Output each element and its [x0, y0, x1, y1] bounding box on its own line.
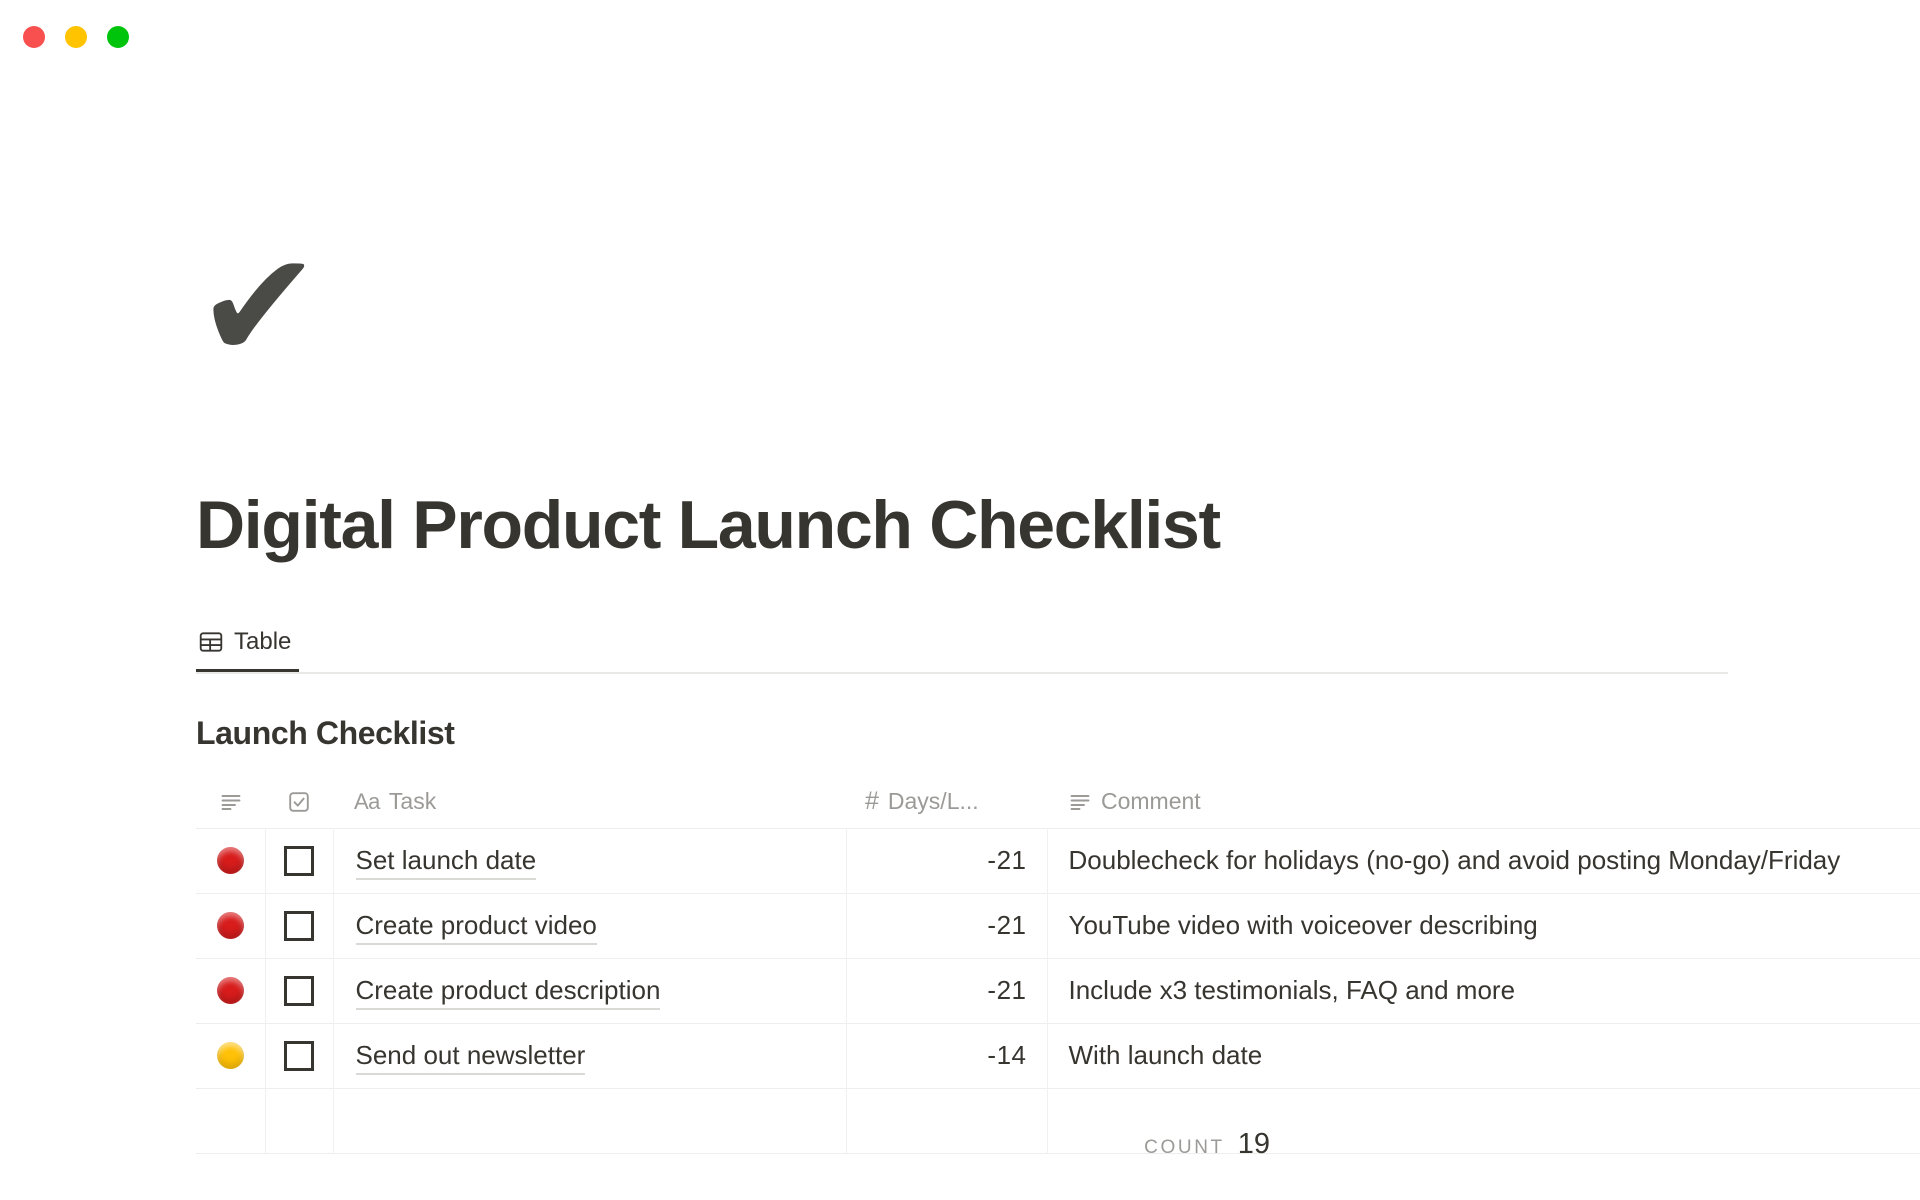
column-header-comment[interactable]: Comment [1047, 776, 1920, 828]
cell-task[interactable]: Set launch date [333, 828, 846, 893]
cell-comment[interactable]: YouTube video with voiceover describing [1047, 893, 1920, 958]
database-table-wrapper: Aa Task # Days/L... [196, 776, 1920, 1154]
cell-status[interactable] [196, 828, 265, 893]
cell-comment[interactable]: With launch date [1047, 1023, 1920, 1088]
table-row[interactable]: Set launch date -21 Doublecheck for holi… [196, 828, 1920, 893]
cell-done[interactable] [265, 828, 333, 893]
tab-table[interactable]: Table [196, 612, 299, 672]
task-link[interactable]: Send out newsletter [356, 1040, 586, 1075]
page-content: ✔ Digital Product Launch Checklist Table… [0, 0, 1920, 1200]
column-header-task-label: Task [389, 788, 436, 815]
text-lines-icon [219, 790, 243, 814]
column-header-comment-label: Comment [1101, 788, 1201, 815]
column-header-done[interactable] [265, 776, 333, 828]
task-link[interactable]: Create product description [356, 975, 661, 1010]
table-grid-icon [198, 629, 224, 655]
status-dot-red [217, 912, 244, 939]
cell-status[interactable] [196, 958, 265, 1023]
cell-days[interactable]: -21 [846, 893, 1047, 958]
cell-days[interactable]: -14 [846, 1023, 1047, 1088]
task-link[interactable]: Create product video [356, 910, 597, 945]
tab-table-label: Table [234, 628, 291, 656]
cell-status[interactable] [196, 893, 265, 958]
view-tab-bar: Table [196, 612, 1728, 674]
app-viewport: ✔ Digital Product Launch Checklist Table… [0, 0, 1920, 1200]
table-header-row: Aa Task # Days/L... [196, 776, 1920, 828]
text-lines-icon [1068, 790, 1092, 814]
status-dot-yellow [217, 1042, 244, 1069]
count-value: 19 [1238, 1128, 1270, 1161]
cell-done[interactable] [265, 958, 333, 1023]
cell-task[interactable]: Create product description [333, 958, 846, 1023]
count-label: Count [1144, 1137, 1225, 1159]
table-row[interactable]: Send out newsletter -14 With launch date [196, 1023, 1920, 1088]
row-checkbox[interactable] [284, 1041, 314, 1071]
status-dot-red [217, 847, 244, 874]
row-checkbox[interactable] [284, 846, 314, 876]
text-type-icon: Aa [354, 789, 380, 815]
cell-days[interactable]: -21 [846, 828, 1047, 893]
cell-task[interactable]: Create product video [333, 893, 846, 958]
database-title[interactable]: Launch Checklist [196, 715, 455, 752]
column-header-days-label: Days/L... [888, 788, 979, 815]
cell-task[interactable]: Send out newsletter [333, 1023, 846, 1088]
column-header-task[interactable]: Aa Task [333, 776, 846, 828]
table-row[interactable]: Create product video -21 YouTube video w… [196, 893, 1920, 958]
number-type-icon: # [865, 789, 879, 814]
cell-status[interactable] [196, 1023, 265, 1088]
task-link[interactable]: Set launch date [356, 845, 537, 880]
column-header-status[interactable] [196, 776, 265, 828]
table-body: Set launch date -21 Doublecheck for holi… [196, 828, 1920, 1153]
column-header-days[interactable]: # Days/L... [846, 776, 1047, 828]
row-checkbox[interactable] [284, 976, 314, 1006]
row-checkbox[interactable] [284, 911, 314, 941]
cell-done[interactable] [265, 1023, 333, 1088]
cell-comment[interactable]: Doublecheck for holidays (no-go) and avo… [1047, 828, 1920, 893]
status-dot-red [217, 977, 244, 1004]
page-check-mark-icon[interactable]: ✔ [196, 232, 346, 382]
table-footer-count: Count 19 [0, 1128, 1270, 1161]
cell-days[interactable]: -21 [846, 958, 1047, 1023]
database-table: Aa Task # Days/L... [196, 776, 1920, 1154]
cell-done[interactable] [265, 893, 333, 958]
page-title[interactable]: Digital Product Launch Checklist [196, 488, 1220, 563]
table-row[interactable]: Create product description -21 Include x… [196, 958, 1920, 1023]
cell-comment[interactable]: Include x3 testimonials, FAQ and more [1047, 958, 1920, 1023]
checkbox-icon [287, 790, 311, 814]
